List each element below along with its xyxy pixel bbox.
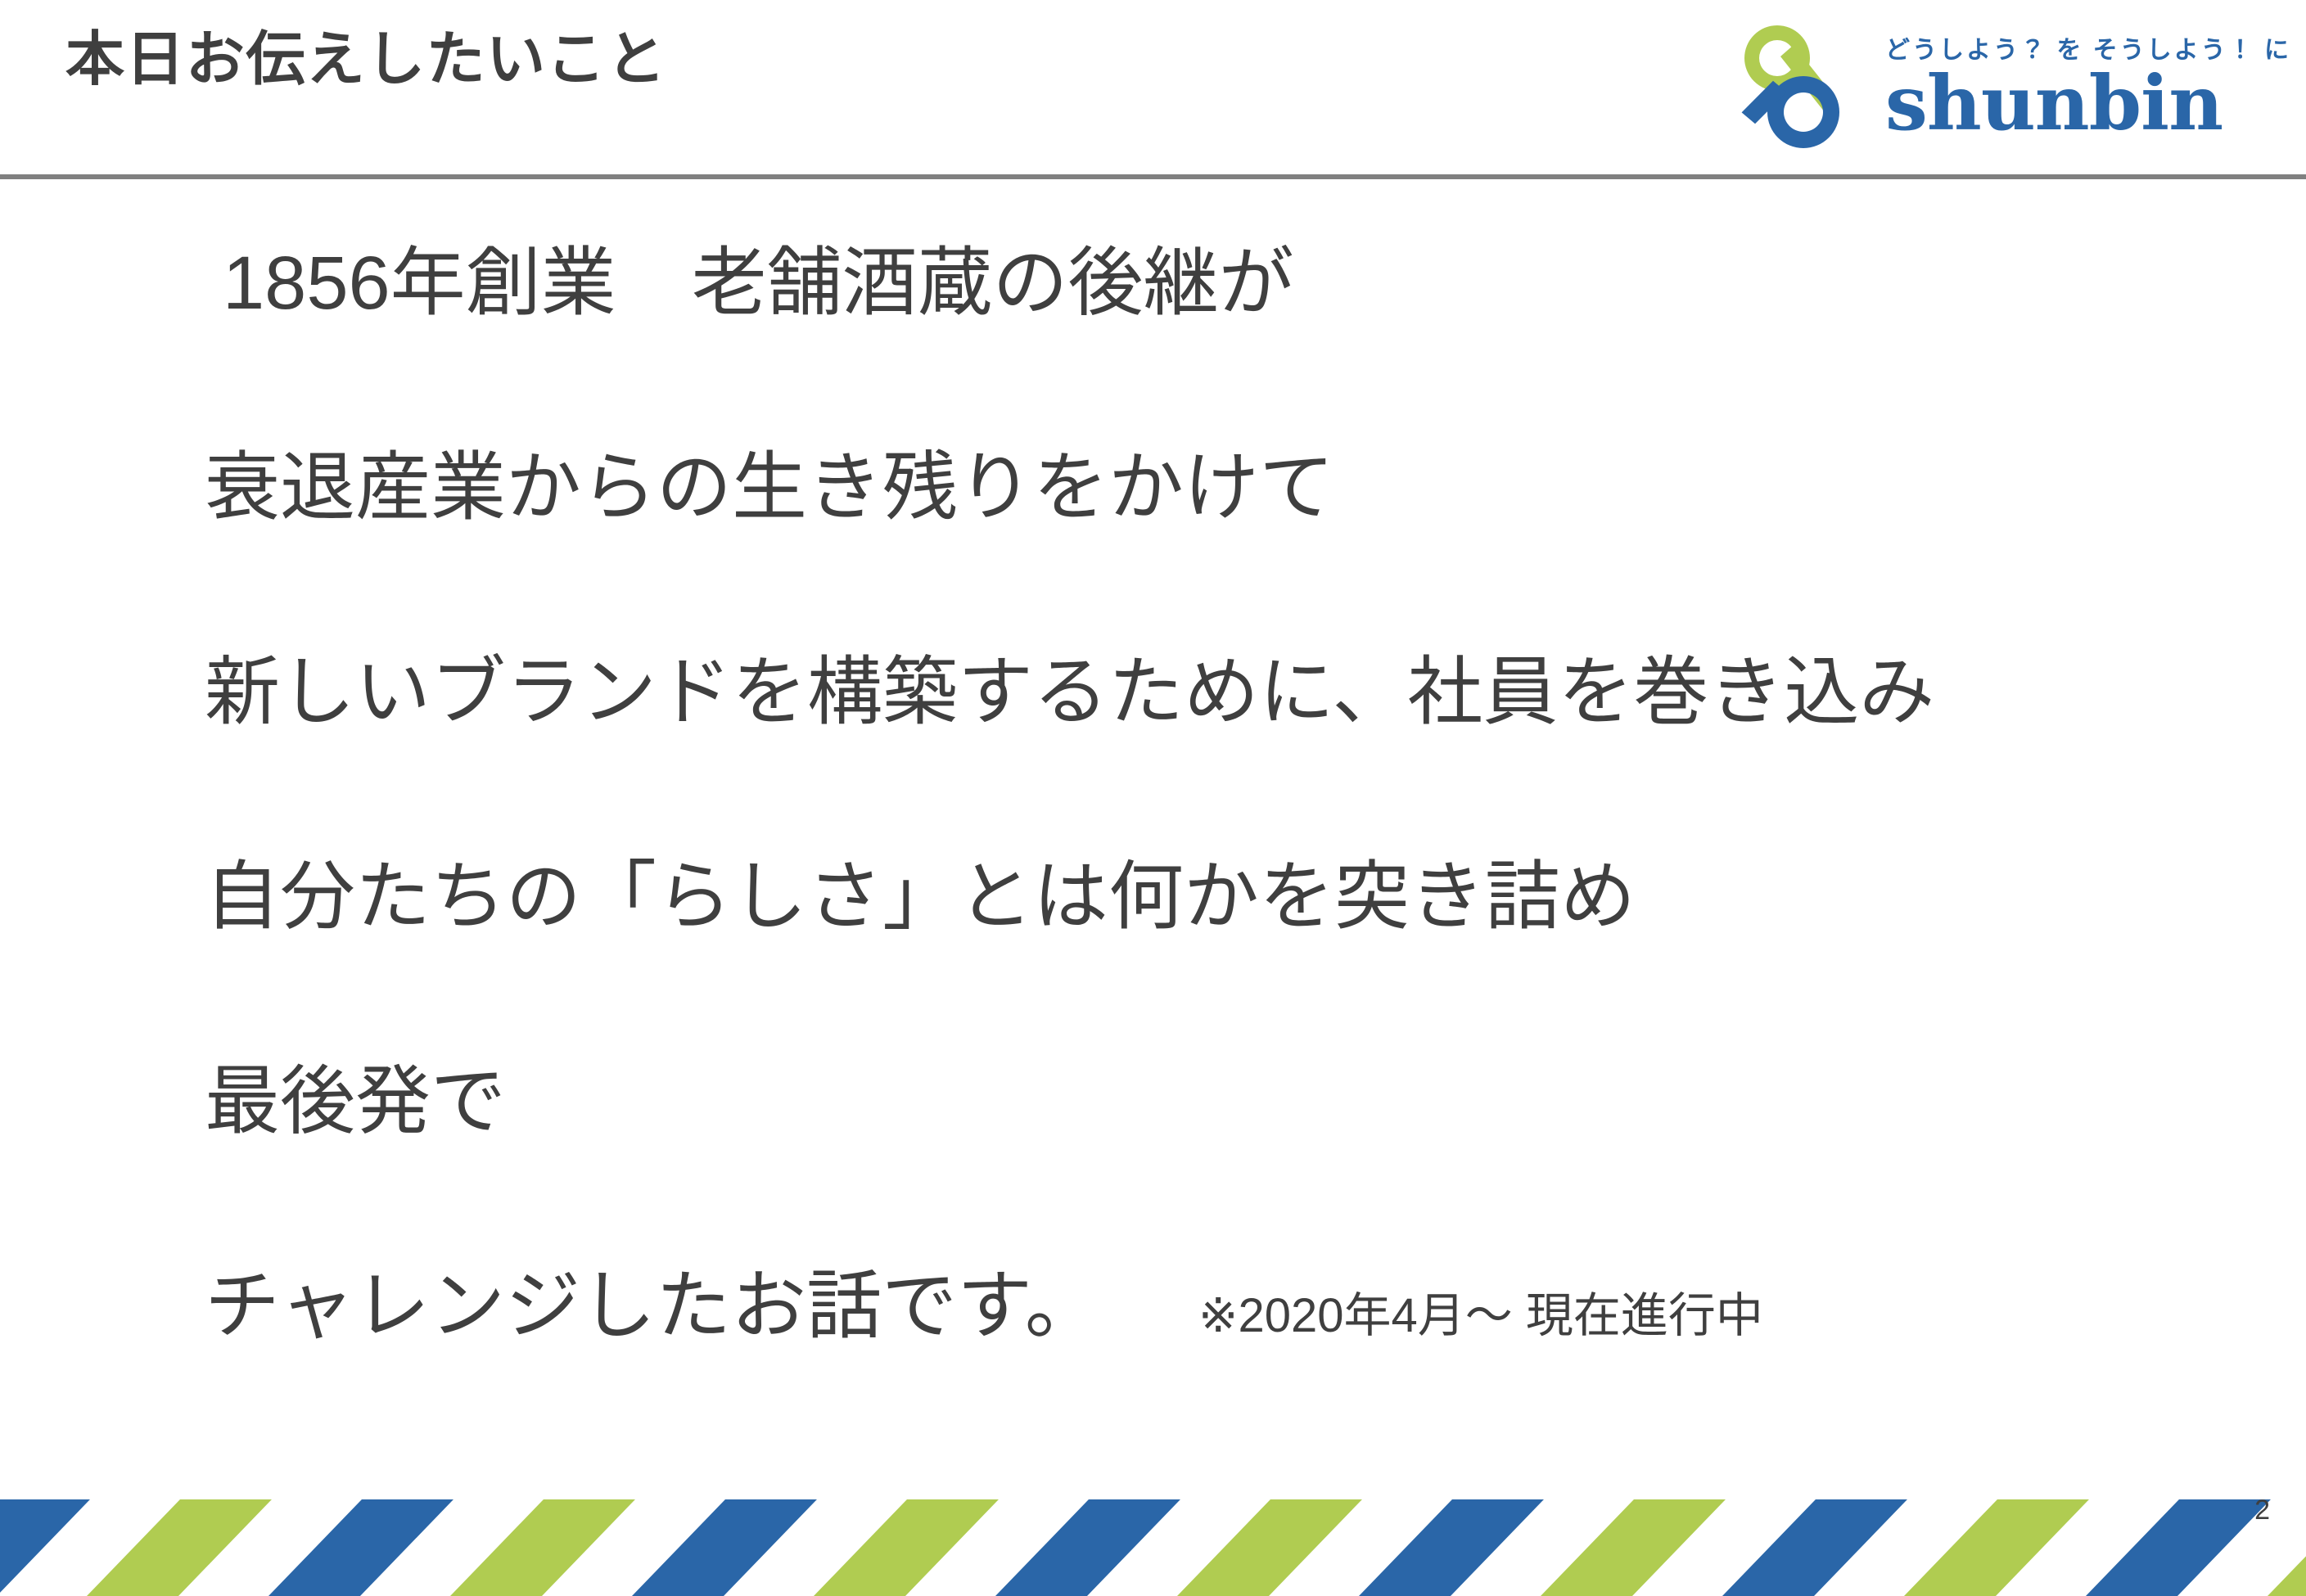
- footer-stripe: [77, 1499, 279, 1596]
- body-line-5-text: 最後発で: [205, 1064, 506, 1139]
- presentation-slide: 本日お伝えしたいこと どうしよう？ を そうしよう！ に shunbin 185…: [0, 0, 2306, 1596]
- footer-stripe: [259, 1499, 461, 1596]
- footer-stripe: [440, 1499, 643, 1596]
- page-title: 本日お伝えしたいこと: [65, 28, 666, 92]
- body-line-5: 最後発で: [205, 1064, 2169, 1154]
- body-line-1: 1856年創業 老舗酒蔵の後継が: [205, 246, 2169, 336]
- footer-stripe: [1713, 1499, 1915, 1596]
- body-line-2-text: 衰退産業からの生き残りをかけて: [205, 450, 1334, 525]
- body-line-4: 自分たちの「らしさ」とは何かを突き詰め: [205, 859, 2169, 949]
- slide-header: 本日お伝えしたいこと どうしよう？ を そうしよう！ に shunbin: [0, 0, 2306, 178]
- body-note: ※2020年4月～ 現在進行中: [1198, 1292, 1763, 1340]
- body-line-3: 新しいブランドを構築するために、社員を巻き込み: [205, 655, 2169, 745]
- footer-stripe: [1894, 1499, 2096, 1596]
- body-line-2: 衰退産業からの生き残りをかけて: [205, 450, 2169, 540]
- body-line-6: チャレンジしたお話です。 ※2020年4月～ 現在進行中: [205, 1269, 2169, 1359]
- company-logo: どうしよう？ を そうしよう！ に shunbin: [1800, 11, 2291, 167]
- body-line-6-text: チャレンジしたお話です。: [205, 1269, 1100, 1344]
- footer-stripe: [986, 1499, 1188, 1596]
- page-number: 2: [2254, 1496, 2270, 1524]
- interlocking-rings-logo-mark: [1718, 16, 1874, 163]
- footer-stripe: [0, 1499, 98, 1596]
- slide-body: 1856年創業 老舗酒蔵の後継が 衰退産業からの生き残りをかけて 新しいブランド…: [205, 246, 2169, 1359]
- body-line-3-text: 新しいブランドを構築するために、社員を巻き込み: [205, 655, 1934, 730]
- logo-wordmark: shunbin: [1885, 68, 2223, 139]
- footer-stripe: [622, 1499, 824, 1596]
- header-divider: [0, 174, 2306, 179]
- footer-stripe-band: [0, 1499, 2306, 1596]
- body-line-4-text: 自分たちの「らしさ」とは何かを突き詰め: [205, 859, 1636, 935]
- body-line-1-text: 1856年創業 老舗酒蔵の後継が: [223, 246, 1294, 321]
- footer-stripe: [804, 1499, 1006, 1596]
- footer-stripe: [1167, 1499, 1370, 1596]
- footer-stripe: [1349, 1499, 1551, 1596]
- footer-stripe: [2076, 1499, 2278, 1596]
- footer-stripe: [1531, 1499, 1733, 1596]
- logo-text: どうしよう？ を そうしよう！ に shunbin: [1885, 38, 2291, 139]
